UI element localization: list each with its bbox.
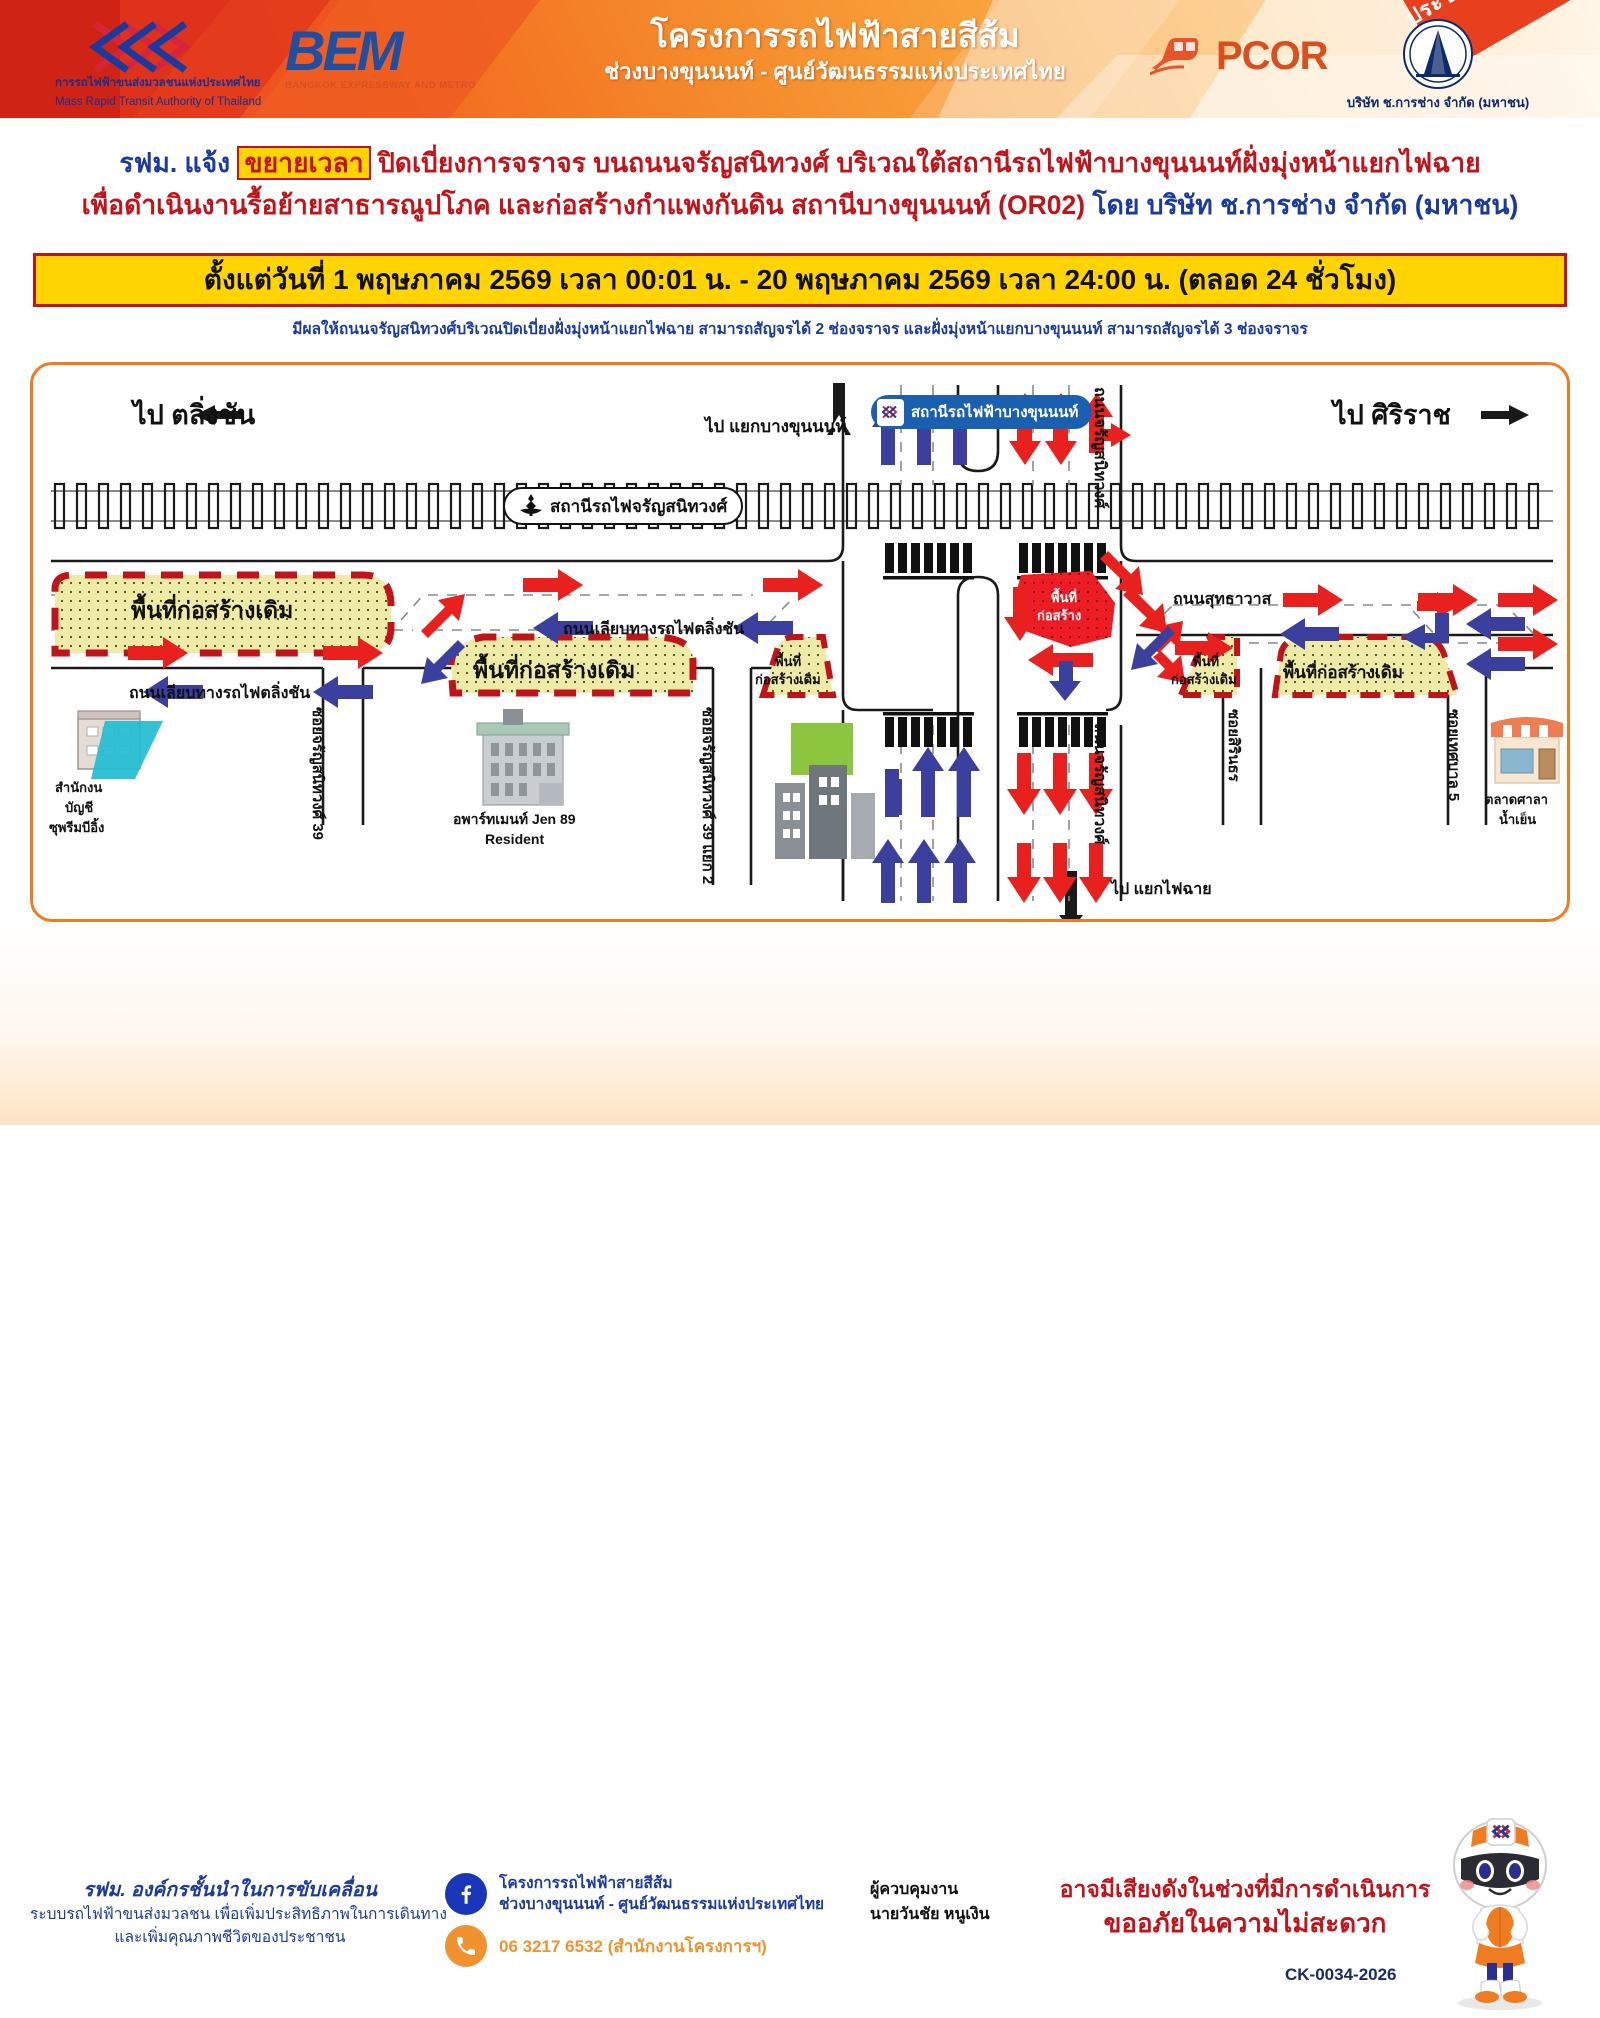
phone-number: 06 3217 6532 (สำนักงานโครงการฯ) xyxy=(499,1933,767,1960)
project-title-line1: โครงการรถไฟฟ้าสายสีส้ม xyxy=(520,16,1150,56)
map-graphics xyxy=(33,365,1567,919)
rail-station-text: สถานีรถไฟจรัญสนิทวงศ์ xyxy=(550,493,727,520)
zone-label-existing-b: พื้นที่ก่อสร้างเดิม xyxy=(473,653,635,689)
vision-line-3: และเพิ่มคุณภาพชีวิตของประชาชน xyxy=(30,1926,430,1949)
vision-line-2: ระบบรถไฟฟ้าขนส่งมวลชน เพื่อเพิ่มประสิทธิ… xyxy=(30,1903,430,1926)
document-code: CK-0034-2026 xyxy=(1285,1965,1397,1985)
zone-label-existing-a: พื้นที่ก่อสร้างเดิม xyxy=(131,593,293,629)
contact-block: โครงการรถไฟฟ้าสายสีส้ม ช่วงบางขุนนนท์ - … xyxy=(445,1873,865,1977)
poi-condo-graphic xyxy=(775,723,875,859)
poi-office-label-3: ซุพรีมบีอิ้ง xyxy=(49,817,104,838)
headline-highlight: ขยายเวลา xyxy=(237,146,370,180)
pcor-wordmark: PCOR xyxy=(1216,34,1328,79)
poi-office-graphic xyxy=(78,711,163,779)
poi-market-label-2: น้ำเย็น xyxy=(1499,809,1536,830)
apology-line-1: อาจมีเสียงดังในช่วงที่มีการดำเนินการ xyxy=(1035,1873,1455,1906)
period-banner: ตั้งแต่วันที่ 1 พฤษภาคม 2569 เวลา 00:01 … xyxy=(33,253,1567,307)
soi-label-39: ซอยจรัญสนิทวงศ์ 39 xyxy=(305,707,329,840)
apology-line-2: ขออภัยในความไม่สะดวก xyxy=(1035,1906,1455,1940)
headline-line-2: เพื่อดำเนินงานรื้อย้ายสาธารณูปโภค และก่อ… xyxy=(40,184,1560,226)
map-direction-right: ไป ศิริราช xyxy=(1333,393,1451,436)
traffic-diversion-map: ไป ตลิ่งชัน ไป ศิริราช ไป แยกบางขุนนนท์ … xyxy=(30,362,1570,922)
map-direction-left: ไป ตลิ่งชัน xyxy=(133,393,255,436)
ck-logo: บริษัท ช.การช่าง จำกัด (มหาชน) xyxy=(1338,18,1538,113)
road-label-service-left-1: ถนนเลียบทางรถไฟตลิ่งชัน xyxy=(129,681,310,706)
bem-logo: BEM BANGKOK EXPRESSWAY AND METRO xyxy=(285,22,495,102)
road-label-service-left-2: ถนนเลียบทางรถไฟตลิ่งชัน xyxy=(563,617,744,642)
zone-label-existing-c2: ก่อสร้างเดิม xyxy=(755,669,821,690)
mrta-logo: การรถไฟฟ้าขนส่งมวลชนแห่งประเทศไทย Mass R… xyxy=(55,18,245,110)
sub-note: มีผลให้ถนนจรัญสนิทวงศ์บริเวณปิดเบี่ยงฝั่… xyxy=(40,316,1560,341)
road-label-charan-lower: ถนนจรัญสนิทวงศ์ xyxy=(1087,723,1112,844)
map-direction-down: ไป แยกไฟฉาย xyxy=(1111,877,1212,902)
soi-label-39-yak2: ซอยจรัญสนิทวงศ์ 39 แยก 2 xyxy=(695,707,719,884)
mascot-robot xyxy=(1425,1813,1575,2013)
vision-block: รฟม. องค์กรชั้นนำในการขับเคลื่อน ระบบรถไ… xyxy=(30,1877,430,1949)
supervisor-name: นายวันชัย หนูเงิน xyxy=(870,1902,990,1927)
facebook-icon[interactable] xyxy=(445,1873,487,1915)
road-label-charan-upper: ถนนจรัญสนิทวงศ์ xyxy=(1087,387,1112,508)
bem-subtitle: BANGKOK EXPRESSWAY AND METRO xyxy=(285,80,495,91)
ck-caption: บริษัท ช.การช่าง จำกัด (มหาชน) xyxy=(1338,92,1538,113)
page-header: การรถไฟฟ้าขนส่งมวลชนแห่งประเทศไทย Mass R… xyxy=(0,0,1600,118)
road-label-sutthawat: ถนนสุทธาวาส xyxy=(1173,587,1271,612)
train-icon xyxy=(1150,36,1212,78)
metro-station-sign: สถานีรถไฟฟ้าบางขุนนนท์ xyxy=(871,395,1092,429)
rail-station-label: สถานีรถไฟจรัญสนิทวงศ์ xyxy=(503,487,743,525)
project-title: โครงการรถไฟฟ้าสายสีส้ม ช่วงบางขุนนนท์ - … xyxy=(520,16,1150,88)
poi-apartment-label-2: Resident xyxy=(485,831,544,847)
headline-l2-b: โดย บริษัท ช.การช่าง จำกัด (มหาชน) xyxy=(1092,190,1518,220)
srt-garuda-icon xyxy=(519,493,543,519)
facebook-line-1: โครงการรถไฟฟ้าสายสีส้ม xyxy=(499,1875,673,1892)
headline-l1-b: ปิดเบี่ยงการจราจร บนถนนจรัญสนิทวงศ์ บริเ… xyxy=(371,148,1481,178)
headline-l1-a: รฟม. แจ้ง xyxy=(119,148,237,178)
pcor-logo: PCOR xyxy=(1150,34,1328,79)
headline-l2-a: เพื่อดำเนินงานรื้อย้ายสาธารณูปโภค และก่อ… xyxy=(82,190,1093,220)
facebook-text: โครงการรถไฟฟ้าสายสีส้ม ช่วงบางขุนนนท์ - … xyxy=(499,1873,824,1915)
phone-row[interactable]: 06 3217 6532 (สำนักงานโครงการฯ) xyxy=(445,1925,865,1967)
page-footer: รฟม. องค์กรชั้นนำในการขับเคลื่อน ระบบรถไ… xyxy=(0,925,1600,1125)
poi-apartment-graphic xyxy=(477,709,569,805)
metro-station-sign-text: สถานีรถไฟฟ้าบางขุนนนท์ xyxy=(911,400,1078,424)
soi-label-thetsaban5: ซอยเทศบาล 5 xyxy=(1441,709,1465,801)
poi-office-label-2: บัญชี xyxy=(65,797,93,818)
mrta-caption-th: การรถไฟฟ้าขนส่งมวลชนแห่งประเทศไทย xyxy=(55,74,245,92)
poi-market-label-1: ตลาดศาลา xyxy=(1485,789,1548,810)
facebook-row[interactable]: โครงการรถไฟฟ้าสายสีส้ม ช่วงบางขุนนนท์ - … xyxy=(445,1873,865,1915)
mrta-mini-logo-icon xyxy=(877,399,904,426)
phone-icon[interactable] xyxy=(445,1925,487,1967)
zone-label-existing-d2: ก่อสร้างเดิม xyxy=(1171,669,1237,690)
zone-label-existing-e: พื้นที่ก่อสร้างเดิม xyxy=(1283,659,1403,686)
soi-label-sirin: ซอยสิรินธร xyxy=(1221,709,1245,782)
apology-block: อาจมีเสียงดังในช่วงที่มีการดำเนินการ ขออ… xyxy=(1035,1873,1455,1940)
bem-wordmark: BEM xyxy=(285,22,495,80)
zone-label-new-b: ก่อสร้าง xyxy=(1037,605,1081,626)
poi-market-graphic xyxy=(1491,717,1563,783)
facebook-line-2: ช่วงบางขุนนนท์ - ศูนย์วัฒนธรรมแห่งประเทศ… xyxy=(499,1896,824,1913)
supervisor-block: ผู้ควบคุมงาน นายวันชัย หนูเงิน xyxy=(870,1877,990,1927)
headline-line-1: รฟม. แจ้ง ขยายเวลา ปิดเบี่ยงการจราจร บนถ… xyxy=(40,142,1560,184)
period-banner-text: ตั้งแต่วันที่ 1 พฤษภาคม 2569 เวลา 00:01 … xyxy=(204,258,1396,302)
mrta-caption-en: Mass Rapid Transit Authority of Thailand xyxy=(55,96,245,108)
headline-block: รฟม. แจ้ง ขยายเวลา ปิดเบี่ยงการจราจร บนถ… xyxy=(40,142,1560,226)
map-direction-up: ไป แยกบางขุนนนท์ xyxy=(705,413,847,440)
vision-line-1: รฟม. องค์กรชั้นนำในการขับเคลื่อน xyxy=(30,1877,430,1903)
poi-office-label-1: สำนักงน xyxy=(55,777,102,798)
project-title-line2: ช่วงบางขุนนนท์ - ศูนย์วัฒนธรรมแห่งประเทศ… xyxy=(520,56,1150,88)
supervisor-label: ผู้ควบคุมงาน xyxy=(870,1877,990,1902)
poi-apartment-label-1: อพาร์ทเมนท์ Jen 89 xyxy=(453,809,576,831)
